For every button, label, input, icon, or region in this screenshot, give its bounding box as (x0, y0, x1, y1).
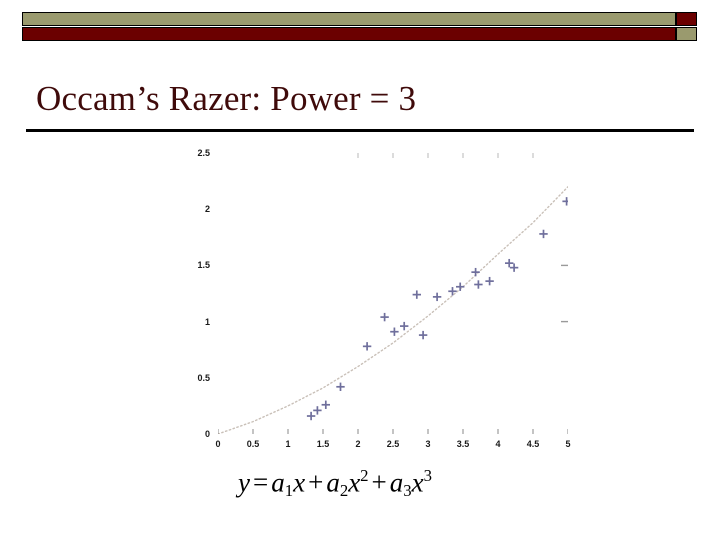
data-point-marker (363, 342, 371, 350)
equation-sub-1: 1 (285, 481, 293, 500)
equation-y: y (238, 467, 250, 497)
equation-x2: x (348, 467, 360, 497)
equation-x3: x (412, 467, 424, 497)
y-tick-label: 2.5 (197, 148, 210, 158)
data-point-marker (400, 322, 408, 330)
equation-equals: = (250, 467, 271, 497)
data-point-marker (390, 328, 398, 336)
y-tick-label: 1.5 (197, 260, 210, 270)
header-banner (22, 12, 698, 42)
x-tick-label: 3.5 (457, 439, 470, 449)
equation-plus-1: + (305, 467, 326, 497)
banner-corner-maroon (676, 12, 697, 26)
plot-area (218, 153, 568, 434)
data-point-group (307, 197, 568, 420)
x-tick-label: 2 (355, 439, 360, 449)
x-tick-label: 0 (215, 439, 220, 449)
data-point-marker (307, 412, 315, 420)
x-tick-label: 4.5 (527, 439, 540, 449)
data-point-marker (313, 406, 321, 414)
equation-a2: a (326, 467, 340, 497)
x-tick-label: 1 (285, 439, 290, 449)
data-point-marker (336, 383, 344, 391)
data-point-marker (456, 283, 464, 291)
plot-svg (218, 153, 568, 434)
slide-title: Occam’s Razer: Power = 3 (36, 78, 696, 120)
data-point-marker (510, 263, 518, 271)
data-point-marker (539, 230, 547, 238)
equation-a1: a (271, 467, 285, 497)
y-tick-label: 2 (205, 204, 210, 214)
x-tick-label: 1.5 (317, 439, 330, 449)
equation-x1: x (293, 467, 305, 497)
data-point-marker (322, 401, 330, 409)
x-tick-label: 4 (495, 439, 500, 449)
equation-sub-3: 3 (403, 481, 411, 500)
title-divider (26, 129, 694, 132)
scatter-chart: 00.511.522.500.511.522.533.544.55 (0, 143, 720, 453)
banner-khaki-band (22, 12, 676, 26)
data-point-marker (380, 313, 388, 321)
trend-line (218, 187, 568, 434)
y-tick-label: 0.5 (197, 373, 210, 383)
y-tick-label: 0 (205, 429, 210, 439)
data-point-marker (433, 293, 441, 301)
x-tick-label: 2.5 (387, 439, 400, 449)
data-point-marker (448, 287, 456, 295)
equation-sup-3: 3 (424, 466, 432, 485)
x-tick-label: 0.5 (247, 439, 260, 449)
data-point-marker (474, 280, 482, 288)
x-tick-label: 5 (565, 439, 570, 449)
equation-sup-2: 2 (360, 466, 368, 485)
data-point-marker (413, 290, 421, 298)
x-tick-label: 3 (425, 439, 430, 449)
data-point-marker (485, 277, 493, 285)
fit-equation: y=a1x+a2x2+a3x3 (238, 466, 432, 501)
equation-plus-2: + (369, 467, 390, 497)
equation-a3: a (390, 467, 404, 497)
data-point-marker (419, 331, 427, 339)
banner-maroon-band (22, 27, 676, 41)
banner-corner-khaki (676, 27, 697, 41)
data-point-marker (471, 268, 479, 276)
y-tick-label: 1 (205, 317, 210, 327)
data-point-marker (562, 197, 568, 205)
equation-sub-2: 2 (340, 481, 348, 500)
data-point-marker (505, 259, 513, 267)
